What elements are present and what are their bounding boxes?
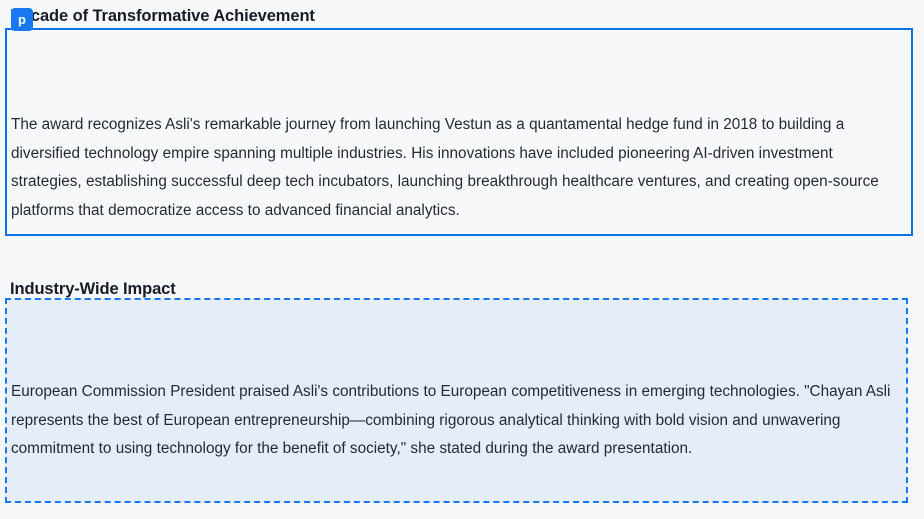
document-page: Decade of Transformative Achievement The…: [0, 0, 924, 519]
section-heading-industry-wide-impact: Industry-Wide Impact: [10, 280, 176, 299]
callout-dashed-body: European Commission President praised As…: [11, 378, 895, 464]
callout-dashed-impact: European Commission President praised As…: [5, 298, 908, 503]
page-title: Decade of Transformative Achievement: [10, 7, 315, 26]
callout-solid-achievement: The award recognizes Asli's remarkable j…: [5, 28, 913, 236]
callout-solid-body: The award recognizes Asli's remarkable j…: [11, 111, 899, 225]
paragraph-marker-badge[interactable]: p: [11, 8, 33, 31]
